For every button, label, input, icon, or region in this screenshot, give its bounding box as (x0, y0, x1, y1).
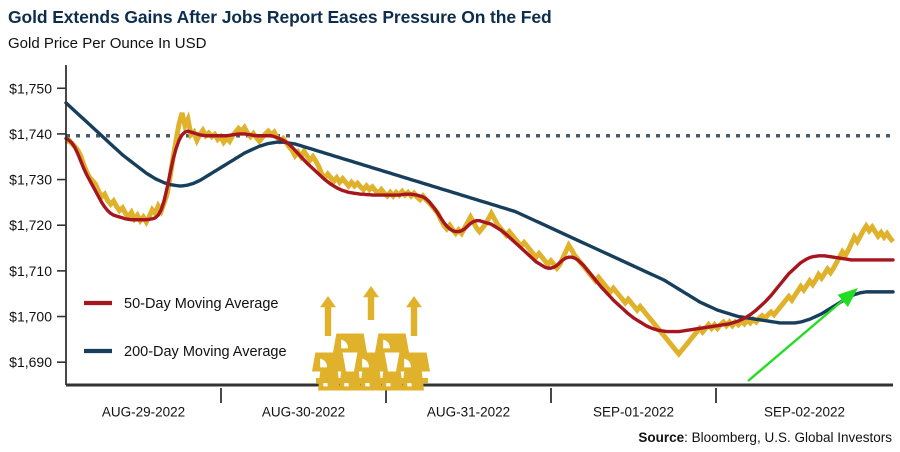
legend-label: 50-Day Moving Average (124, 296, 279, 312)
x-axis-tick-label: AUG-30-2022 (262, 405, 345, 420)
series-line-gold-price (66, 113, 893, 354)
y-axis-labels: $1,690$1,700$1,710$1,720$1,730$1,740$1,7… (9, 80, 52, 370)
source-label: Source (638, 430, 684, 445)
x-axis-ticks (221, 388, 716, 403)
y-axis-tick-label: $1,700 (9, 309, 52, 325)
y-axis-tick-label: $1,710 (9, 263, 52, 279)
source-text: Bloomberg, U.S. Global Investors (692, 430, 892, 445)
y-axis-tick-label: $1,740 (9, 126, 52, 142)
y-axis-tick-label: $1,750 (9, 80, 52, 96)
y-axis-ticks (57, 88, 66, 362)
y-axis-tick-label: $1,730 (9, 172, 52, 188)
legend-label: 200-Day Moving Average (124, 344, 287, 360)
chart-legend: 50-Day Moving Average200-Day Moving Aver… (84, 296, 287, 360)
chart-plot-area: $1,690$1,700$1,710$1,720$1,730$1,740$1,7… (0, 0, 900, 452)
y-axis-tick-label: $1,720 (9, 217, 52, 233)
source-separator: : (684, 430, 692, 445)
gold-price-chart: $1,690$1,700$1,710$1,720$1,730$1,740$1,7… (0, 0, 900, 452)
data-series-group (66, 103, 893, 354)
chart-screenshot: Gold Extends Gains After Jobs Report Eas… (0, 0, 900, 452)
gold-bars-icon (312, 286, 430, 391)
y-axis-tick-label: $1,690 (9, 354, 52, 370)
axis-lines (66, 65, 893, 385)
source-note: Source: Bloomberg, U.S. Global Investors (638, 430, 892, 445)
x-axis-labels: AUG-29-2022AUG-30-2022AUG-31-2022SEP-01-… (102, 405, 845, 420)
x-axis-tick-label: AUG-31-2022 (427, 405, 510, 420)
x-axis-tick-label: SEP-02-2022 (764, 405, 845, 420)
x-axis-tick-label: AUG-29-2022 (102, 405, 185, 420)
x-axis-tick-label: SEP-01-2022 (593, 405, 674, 420)
